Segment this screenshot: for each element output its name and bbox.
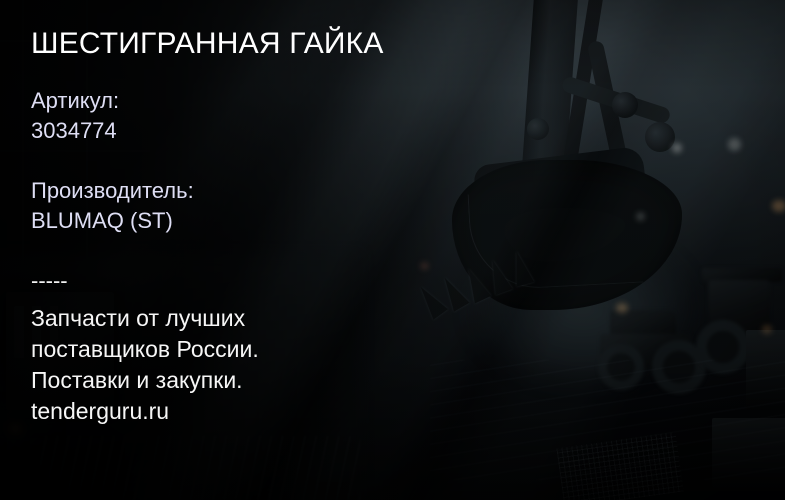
bokeh-light [636,212,645,221]
tagline-line-3: Поставки и закупки. [31,365,259,396]
bokeh-light [616,303,628,313]
excavator-pin [645,122,675,152]
text-divider: ----- [31,268,68,294]
bokeh-light [762,325,772,334]
background-tractor-far-right [690,268,785,398]
tagline-block: Запчасти от лучших поставщиков России. П… [31,303,259,427]
background-far-loader [470,240,720,410]
product-banner: ШЕСТИГРАННАЯ ГАЙКА Артикул: 3034774 Прои… [0,0,785,500]
banner-content: ШЕСТИГРАННАЯ ГАЙКА Артикул: 3034774 Прои… [31,0,451,500]
excavator-pin [612,92,638,118]
manufacturer-field: Производитель: BLUMAQ (ST) [31,176,194,236]
excavator-bucket [452,160,682,310]
background-tractor-right [600,300,740,410]
excavator-linkage-upper [587,40,630,170]
bokeh-light [772,200,785,212]
background-rack [746,330,785,410]
tagline-line-1: Запчасти от лучших [31,303,259,334]
manufacturer-value: BLUMAQ (ST) [31,206,194,236]
background-ground-lines [430,360,785,480]
site-url[interactable]: tenderguru.ru [31,396,259,427]
excavator-linkage [560,75,671,125]
bokeh-light [728,138,741,151]
page-title: ШЕСТИГРАННАЯ ГАЙКА [31,26,384,62]
excavator-pin [527,118,549,140]
article-field: Артикул: 3034774 [31,86,119,146]
excavator-bucket-top [473,146,646,200]
bokeh-light [672,143,682,153]
excavator-boom-secondary [562,0,604,170]
article-value: 3034774 [31,116,119,146]
manufacturer-label: Производитель: [31,178,194,203]
article-label: Артикул: [31,88,119,113]
tagline-line-2: поставщиков России. [31,334,259,365]
excavator-boom [520,0,580,196]
background-rack [712,418,785,488]
background-mesh-panel [556,432,683,500]
